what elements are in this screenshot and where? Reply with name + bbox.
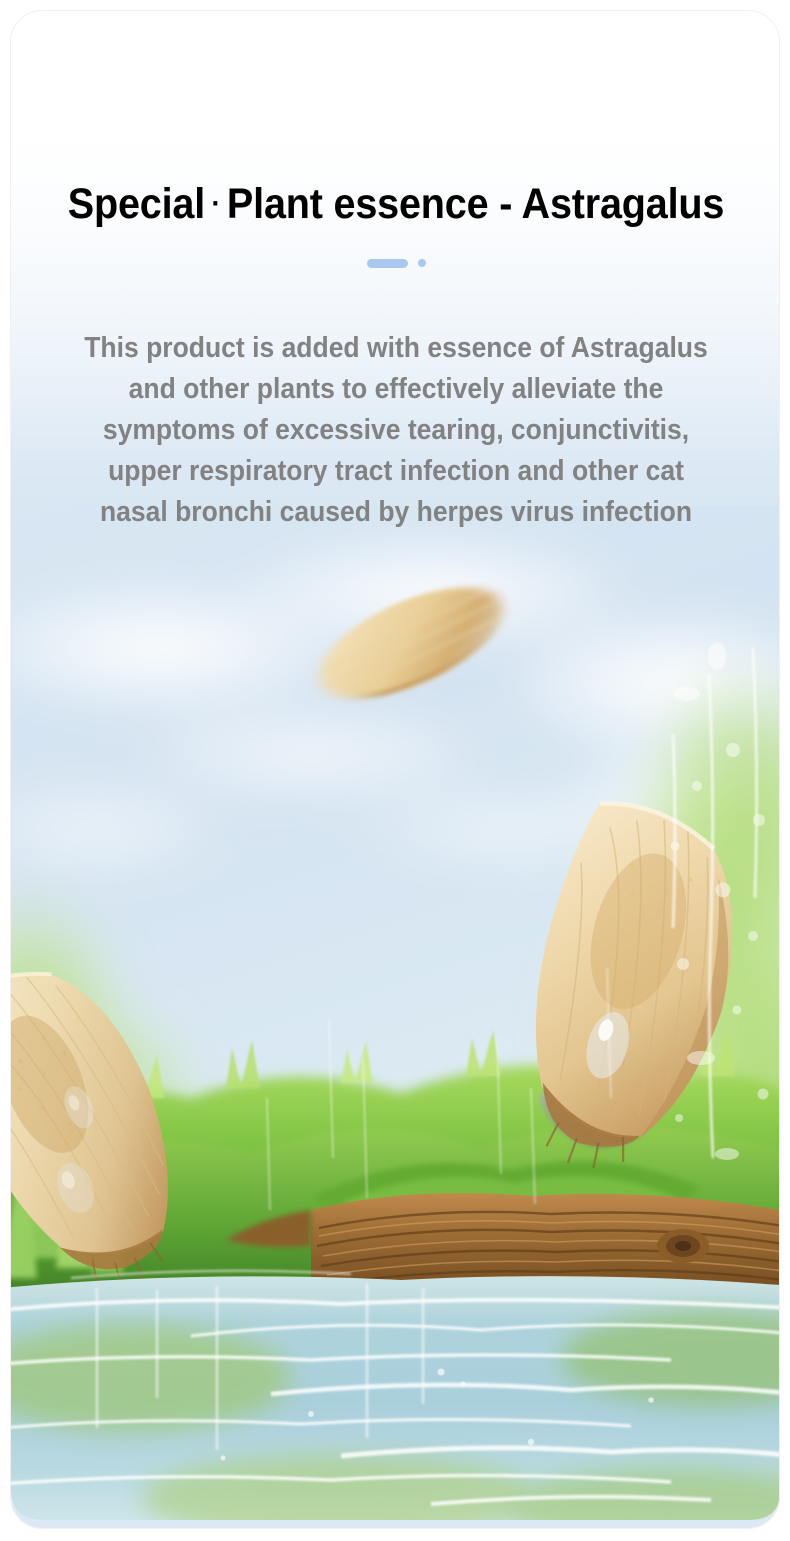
divider-dot-icon — [418, 259, 426, 267]
product-photo-illustration — [11, 498, 780, 1529]
description-line: upper respiratory tract infection and ot… — [71, 451, 722, 492]
product-photo — [11, 498, 780, 1529]
description-line: symptoms of excessive tearing, conjuncti… — [71, 410, 722, 451]
divider-pill-icon — [367, 259, 408, 268]
section-divider — [11, 257, 780, 269]
product-detail-card: Special·Plant essence - Astragalus This … — [10, 10, 780, 1529]
description-line: nasal bronchi caused by herpes virus inf… — [71, 492, 722, 533]
product-description: This product is added with essence of As… — [71, 328, 722, 533]
header-section: Special·Plant essence - Astragalus This … — [11, 11, 780, 506]
title-prefix: Special — [68, 180, 205, 228]
water-surface — [11, 1271, 780, 1529]
wood-knot — [657, 1229, 709, 1263]
description-line: and other plants to effectively alleviat… — [71, 369, 722, 410]
description-line: This product is added with essence of As… — [71, 328, 722, 369]
page-title: Special·Plant essence - Astragalus — [42, 179, 750, 229]
title-suffix: Plant essence - Astragalus — [227, 180, 724, 228]
title-separator-dot: · — [205, 187, 227, 220]
